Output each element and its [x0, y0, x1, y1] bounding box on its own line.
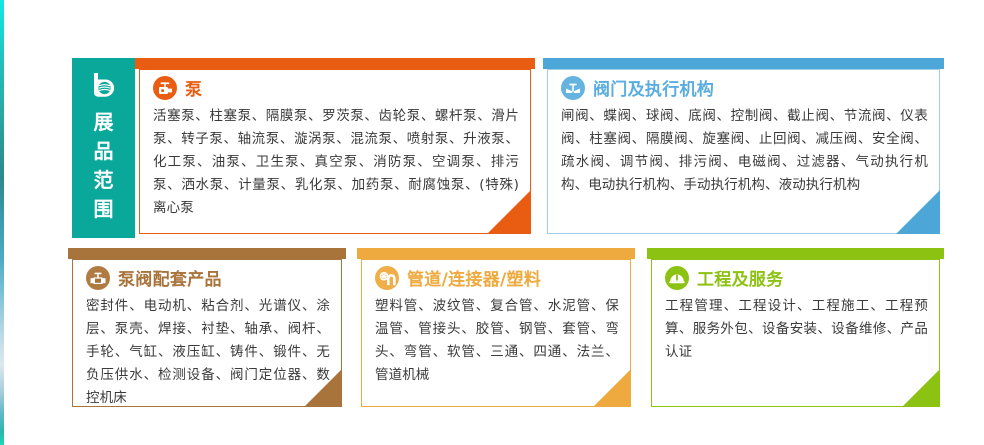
card-title: 工程及服务 — [697, 265, 784, 290]
card-title: 管道/连接器/塑料 — [407, 265, 541, 290]
card-header: 泵 — [153, 75, 519, 100]
card-title: 阀门及执行机构 — [593, 75, 714, 100]
card-body-text: 工程管理、工程设计、工程施工、工程预算、服务外包、设备安装、设备维修、产品认证 — [665, 295, 928, 364]
card-body-text: 密封件、电动机、粘合剂、光谱仪、涂层、泵壳、焊接、衬垫、轴承、阀杆、手轮、气缸、… — [86, 295, 330, 410]
card-body-text: 塑料管、波纹管、复合管、水泥管、保温管、管接头、胶管、钢管、套管、弯头、弯管、软… — [375, 295, 619, 387]
card-header: 管道/连接器/塑料 — [375, 265, 619, 290]
pipe-connector-icon — [375, 266, 399, 290]
valve-actuator-icon — [561, 76, 585, 100]
card-header: 阀门及执行机构 — [561, 75, 928, 100]
exhibit-scope-banner: 展 品 范 围 — [72, 58, 135, 238]
category-card-services[interactable]: 工程及服务 工程管理、工程设计、工程施工、工程预算、服务外包、设备安装、设备维修… — [647, 248, 944, 411]
card-title: 泵 — [185, 75, 202, 100]
card-header: 泵阀配套产品 — [86, 265, 330, 290]
banner-char-3: 范 — [94, 166, 114, 195]
banner-char-1: 展 — [94, 108, 114, 137]
pump-valve-accessory-icon — [86, 266, 110, 290]
helmet-icon — [665, 266, 689, 290]
pump-icon — [153, 76, 177, 100]
leaf-badge-logo-icon — [91, 72, 117, 102]
card-header: 工程及服务 — [665, 265, 928, 290]
category-card-pipes[interactable]: 管道/连接器/塑料 塑料管、波纹管、复合管、水泥管、保温管、管接头、胶管、钢管、… — [357, 248, 635, 411]
category-card-pumps[interactable]: 泵 活塞泵、柱塞泵、隔膜泵、罗茨泵、齿轮泵、螺杆泵、滑片泵、转子泵、轴流泵、漩涡… — [135, 58, 535, 238]
category-card-valves[interactable]: 阀门及执行机构 闸阀、蝶阀、球阀、底阀、控制阀、截止阀、节流阀、仪表阀、柱塞阀、… — [543, 58, 944, 238]
card-title: 泵阀配套产品 — [118, 265, 222, 290]
exhibit-scope-board: 展 品 范 围 泵 活塞泵、 — [0, 0, 984, 445]
banner-char-4: 围 — [94, 195, 114, 224]
card-body-text: 活塞泵、柱塞泵、隔膜泵、罗茨泵、齿轮泵、螺杆泵、滑片泵、转子泵、轴流泵、漩涡泵、… — [153, 105, 519, 220]
category-card-fittings[interactable]: 泵阀配套产品 密封件、电动机、粘合剂、光谱仪、涂层、泵壳、焊接、衬垫、轴承、阀杆… — [68, 248, 346, 411]
banner-char-2: 品 — [94, 137, 114, 166]
banner-label: 展 品 范 围 — [94, 108, 114, 224]
card-body-text: 闸阀、蝶阀、球阀、底阀、控制阀、截止阀、节流阀、仪表阀、柱塞阀、隔膜阀、旋塞阀、… — [561, 105, 928, 197]
